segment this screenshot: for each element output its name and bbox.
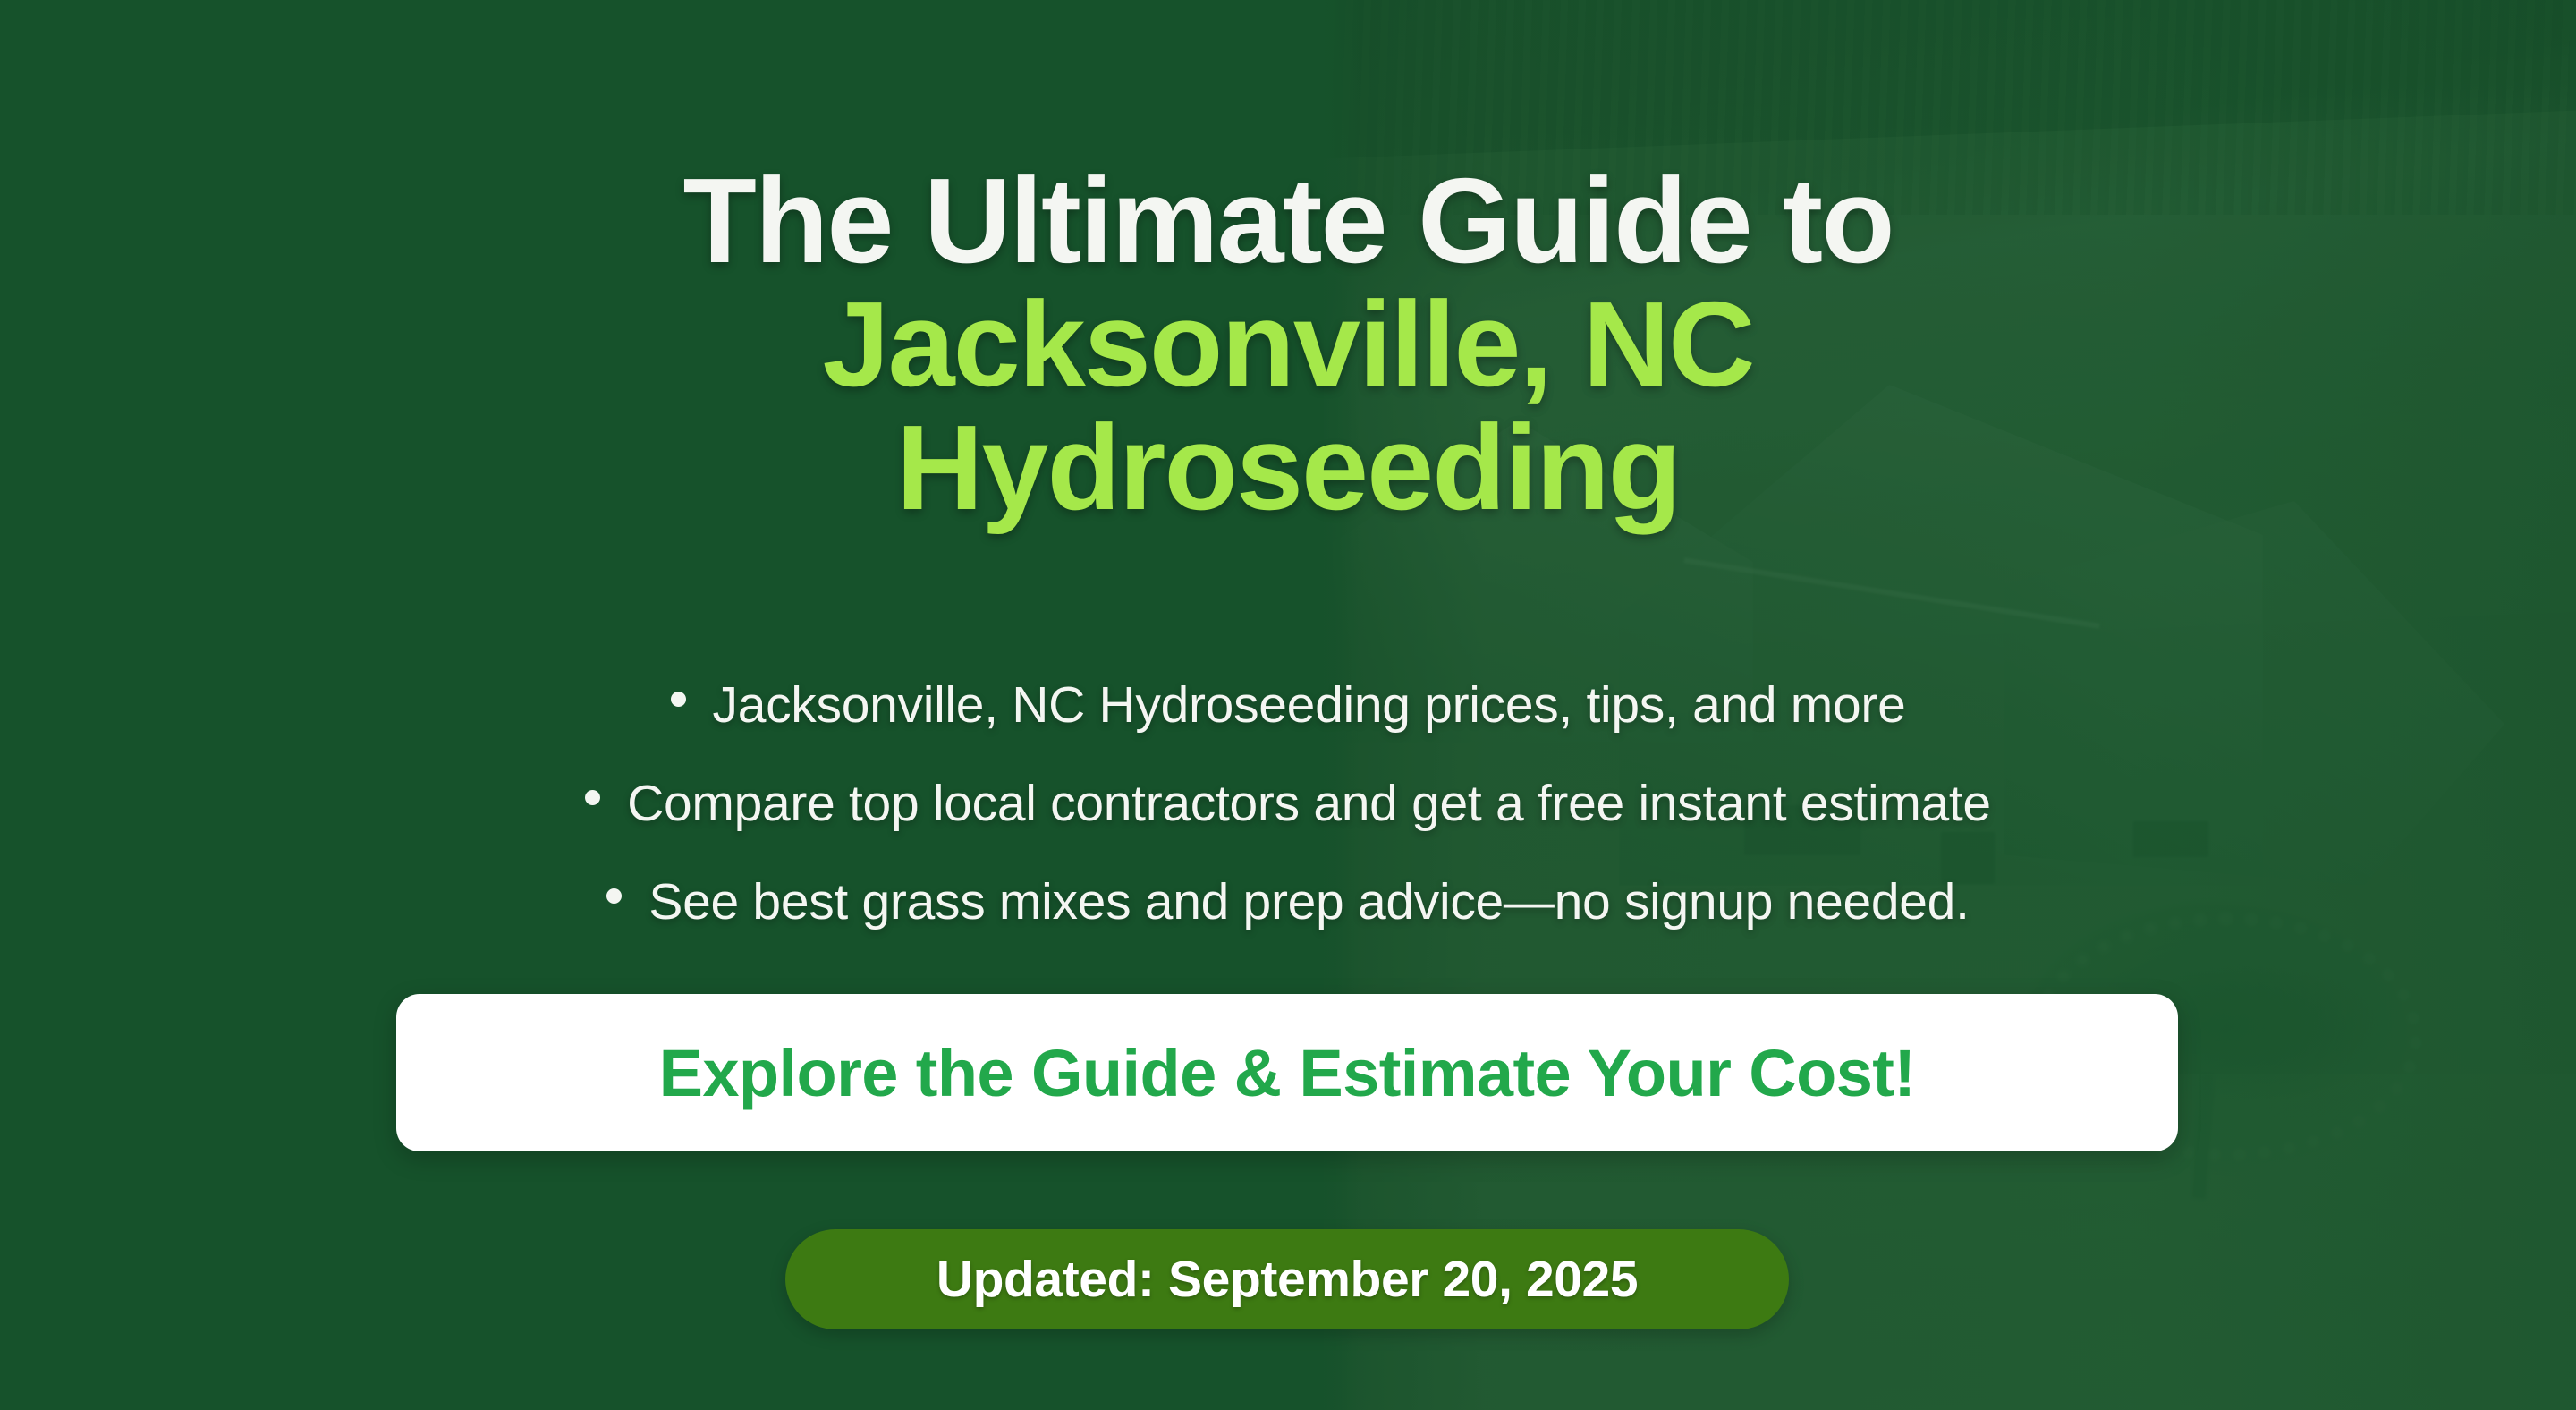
- updated-date-label: Updated: September 20, 2025: [936, 1250, 1638, 1309]
- list-item: See best grass mixes and prep advice—no …: [0, 872, 2576, 928]
- explore-guide-button[interactable]: Explore the Guide & Estimate Your Cost!: [396, 994, 2178, 1151]
- list-item-label: Jacksonville, NC Hydroseeding prices, ti…: [713, 676, 1906, 734]
- benefit-list: Jacksonville, NC Hydroseeding prices, ti…: [0, 675, 2576, 971]
- list-item: Compare top local contractors and get a …: [0, 774, 2576, 829]
- hero-banner: The Ultimate Guide to Jacksonville, NC H…: [0, 0, 2576, 1410]
- title-line-accent-2: Hydroseeding: [152, 406, 2424, 530]
- list-item-label: See best grass mixes and prep advice—no …: [648, 873, 1969, 930]
- page-title: The Ultimate Guide to Jacksonville, NC H…: [0, 159, 2576, 529]
- bullet-dot-icon: [606, 888, 622, 904]
- list-item-label: Compare top local contractors and get a …: [627, 775, 1991, 832]
- list-item: Jacksonville, NC Hydroseeding prices, ti…: [0, 675, 2576, 731]
- bullet-dot-icon: [671, 692, 686, 707]
- explore-guide-button-label: Explore the Guide & Estimate Your Cost!: [659, 1035, 1916, 1111]
- hero-content: The Ultimate Guide to Jacksonville, NC H…: [0, 0, 2576, 1410]
- title-line-accent-1: Jacksonville, NC: [152, 283, 2424, 406]
- updated-date-badge: Updated: September 20, 2025: [785, 1229, 1789, 1329]
- bullet-dot-icon: [585, 790, 600, 805]
- title-line-primary: The Ultimate Guide to: [682, 153, 1893, 288]
